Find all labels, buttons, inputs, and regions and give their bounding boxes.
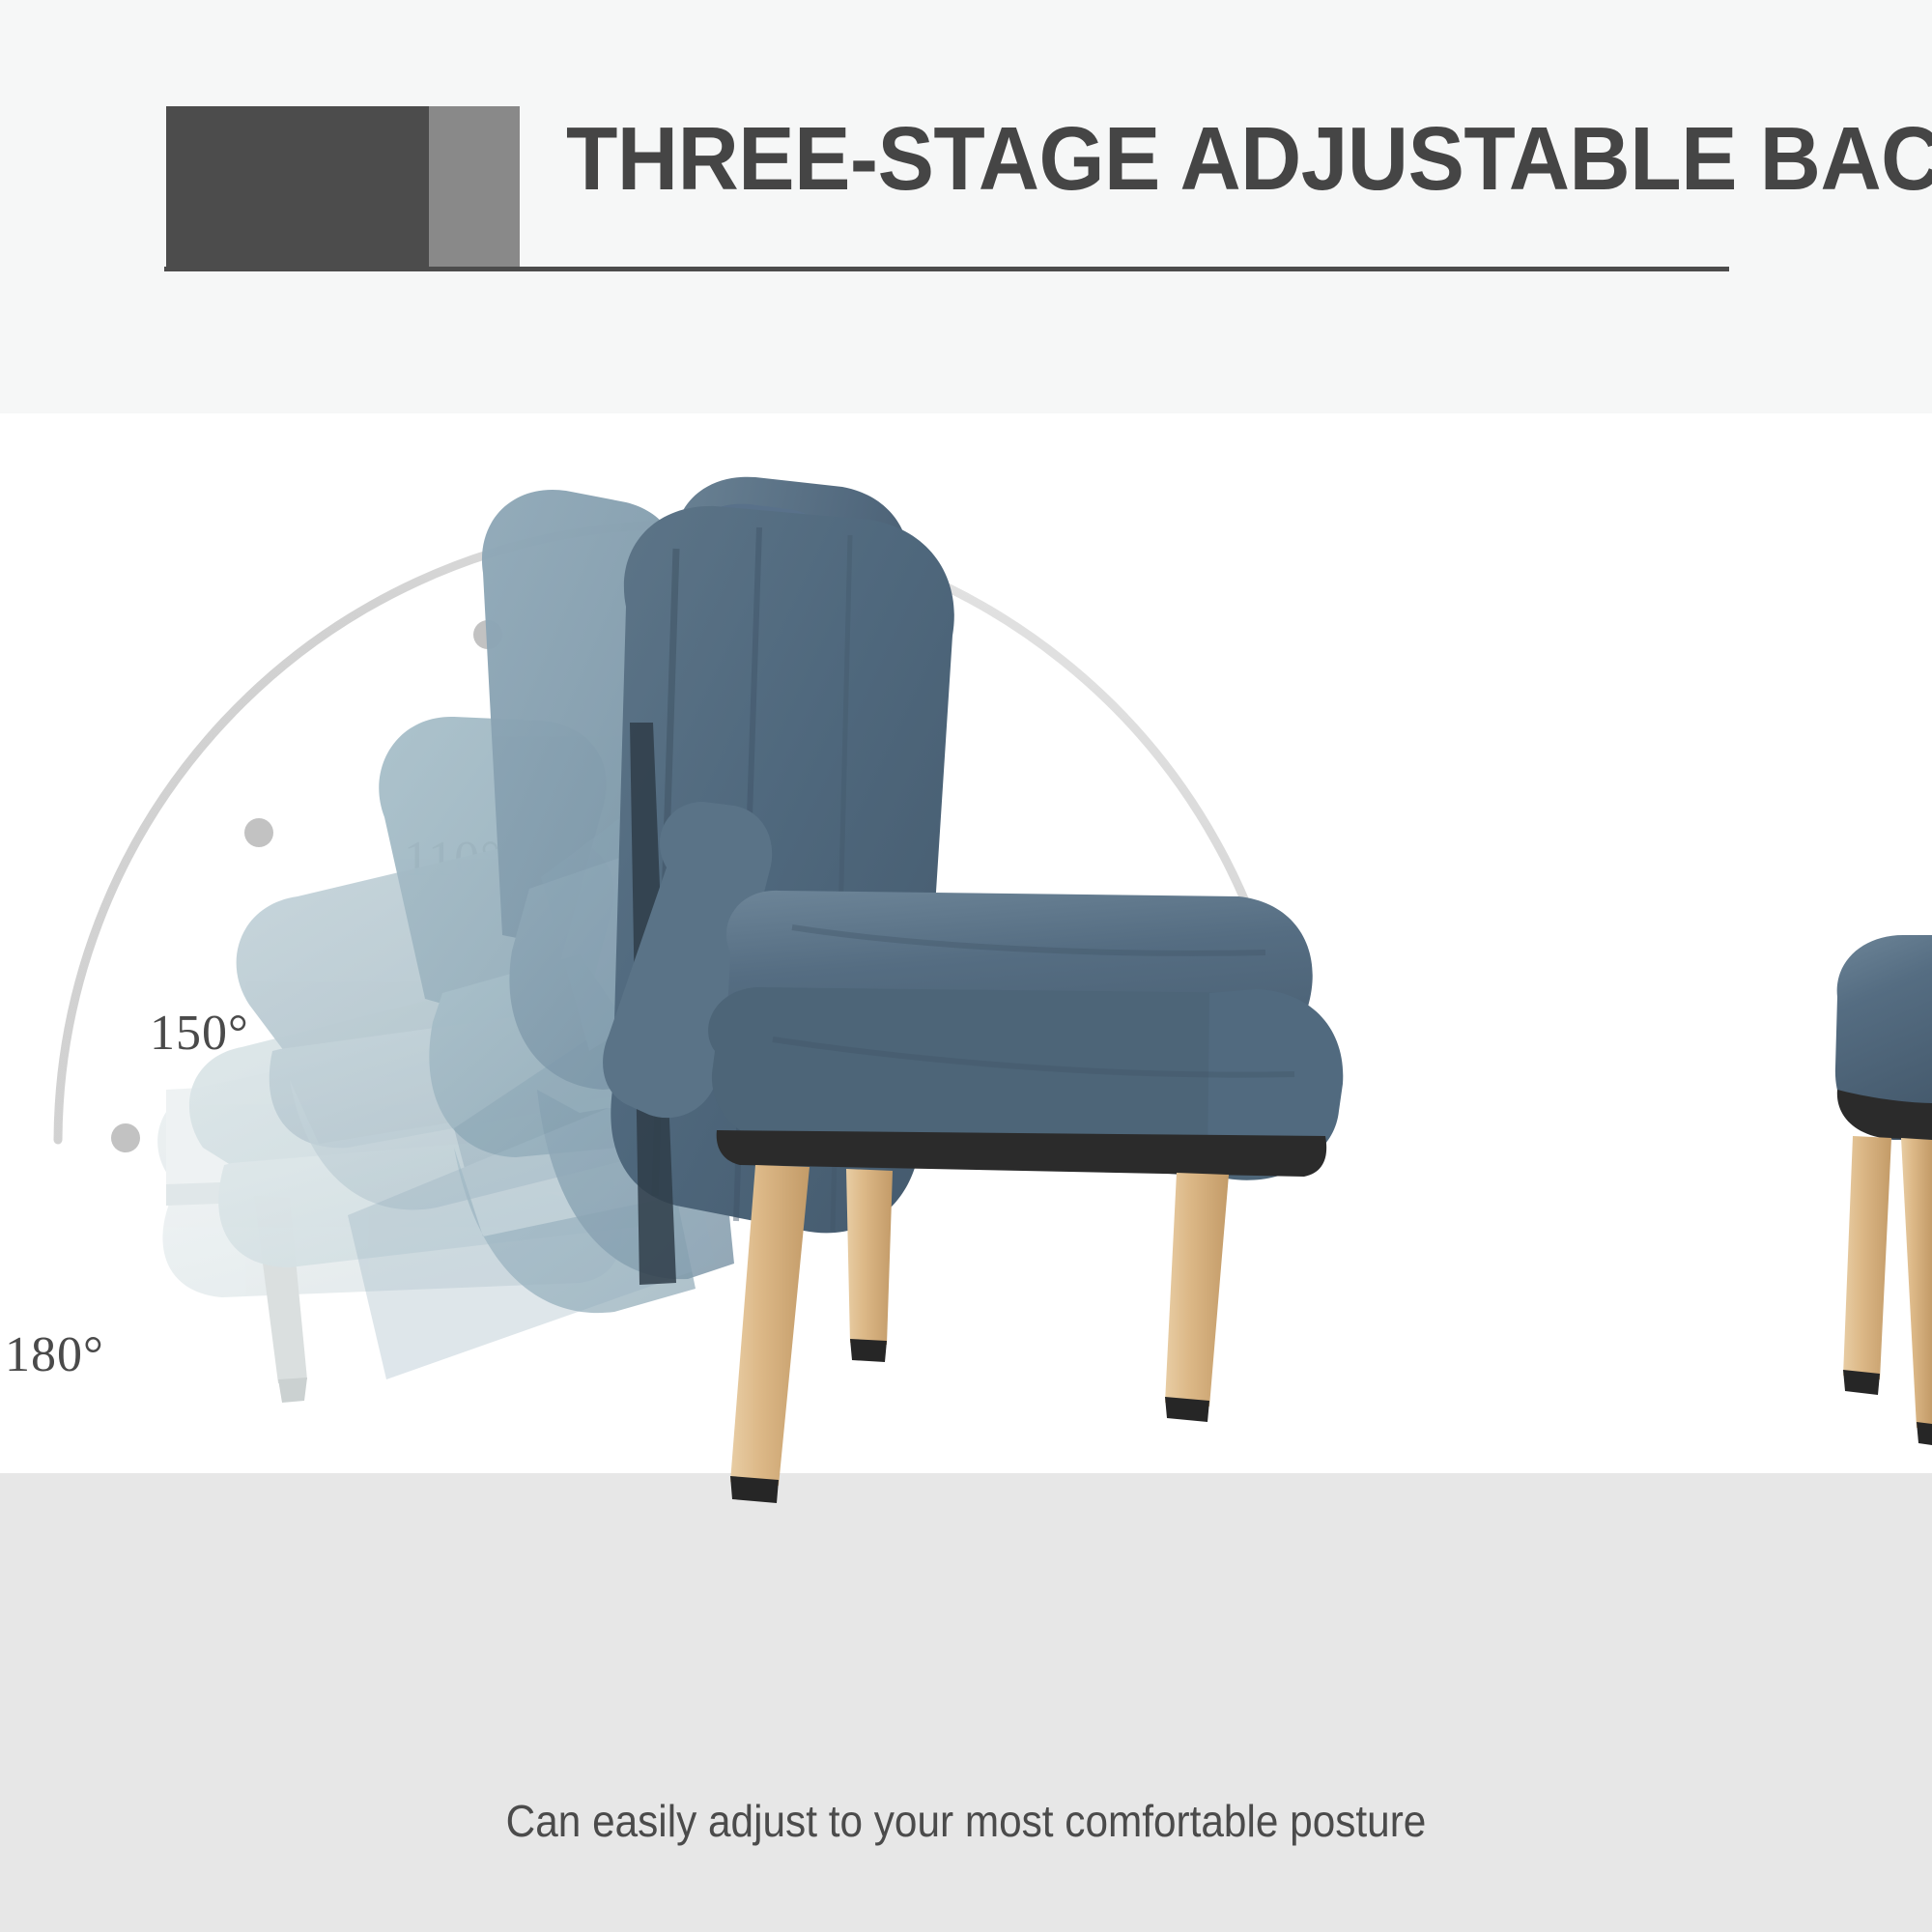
header-accent-swatches: [166, 106, 520, 269]
header-underline-rule: [164, 267, 1729, 271]
chair-illustration: [0, 413, 1932, 1932]
ottoman-leg-left: [1843, 1136, 1891, 1395]
ottoman-leg-right: [1901, 1138, 1932, 1445]
product-stage: 90° 110° 150° 180°: [0, 413, 1932, 1932]
header-band: THREE-STAGE ADJUSTABLE BACKREST: [0, 0, 1932, 413]
chair-main-solid: [603, 477, 1343, 1503]
ottoman-cropped: [1835, 935, 1932, 1445]
swatch-light-block: [429, 106, 520, 269]
page-title: THREE-STAGE ADJUSTABLE BACKREST: [566, 114, 1932, 204]
swatch-dark-block: [166, 106, 429, 269]
leg-front-left: [846, 1169, 893, 1362]
leg-right: [1165, 1173, 1229, 1422]
caption-text: Can easily adjust to your most comfortab…: [77, 1795, 1855, 1847]
